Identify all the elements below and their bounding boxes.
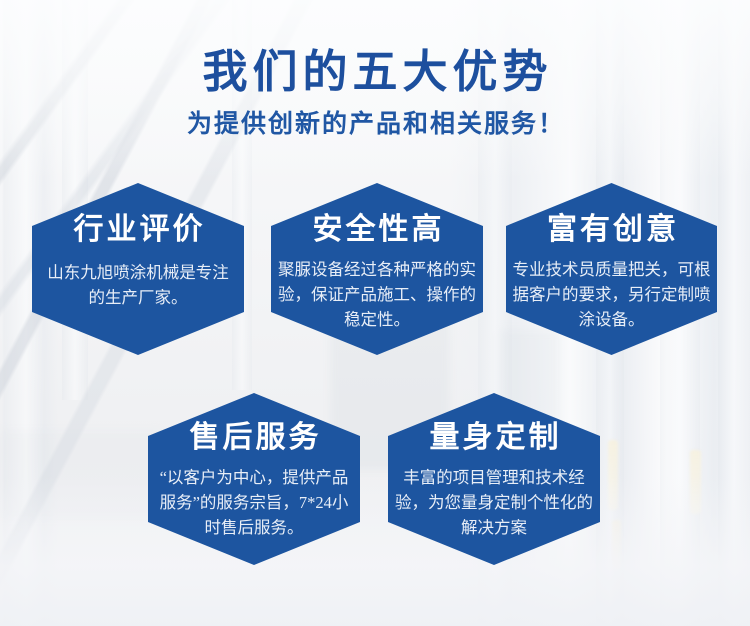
page-subtitle: 为提供创新的产品和相关服务！ <box>0 100 750 141</box>
advantage-body: “以客户为中心，提供产品服务”的服务宗旨，7*24小时售后服务。 <box>148 456 360 540</box>
advantage-body: 丰富的项目管理和技术经验，为您量身定制个性化的解决方案 <box>388 456 600 540</box>
advantages-banner: 我们的五大优势 为提供创新的产品和相关服务！ 行业评价 山东九旭喷涂机械是专注的… <box>0 0 750 626</box>
advantage-body: 专业技术员质量把关，可根据客户的要求，另行定制喷涂设备。 <box>506 248 717 332</box>
advantage-body: 山东九旭喷涂机械是专注的生产厂家。 <box>32 248 244 310</box>
advantage-body: 聚脲设备经过各种严格的实验，保证产品施工、操作的稳定性。 <box>271 248 483 332</box>
banner-header: 我们的五大优势 为提供创新的产品和相关服务！ <box>0 0 750 141</box>
background-bottom-haze <box>0 476 750 626</box>
page-title: 我们的五大优势 <box>0 0 750 100</box>
